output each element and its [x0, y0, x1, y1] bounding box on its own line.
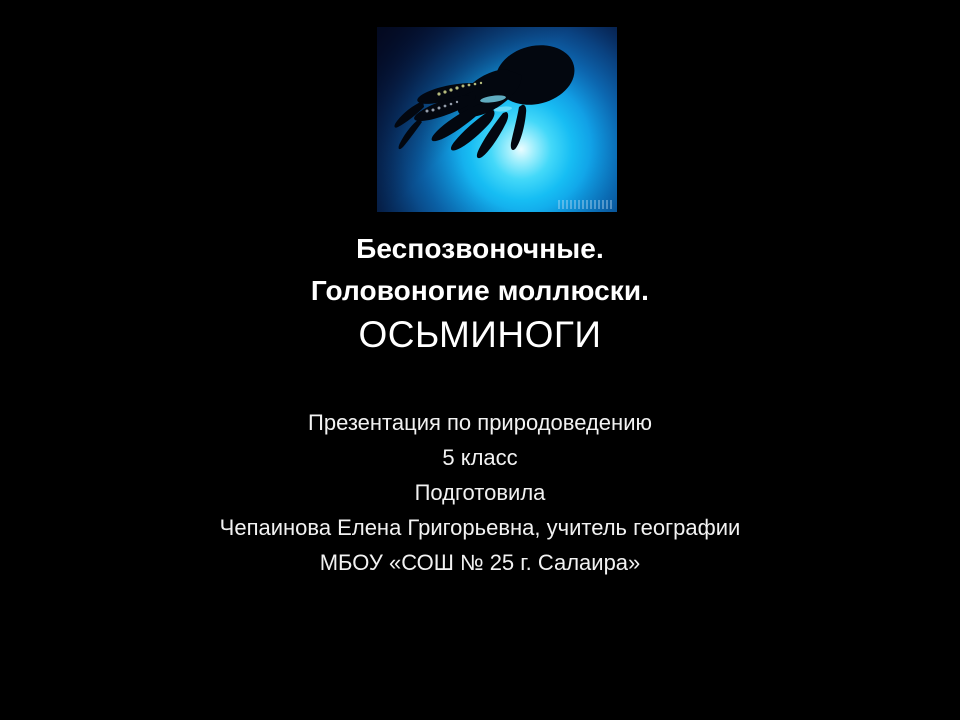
subtitle-line-2: 5 класс	[0, 440, 960, 475]
octopus-silhouette-icon	[377, 27, 617, 212]
slide-subtitle: Презентация по природоведению 5 класс По…	[0, 405, 960, 580]
presentation-title-slide: Беспозвоночные. Головоногие моллюски. ОС…	[0, 0, 960, 720]
subtitle-line-1: Презентация по природоведению	[0, 405, 960, 440]
hero-image	[377, 27, 617, 212]
image-watermark	[558, 200, 614, 209]
subtitle-line-author: Чепаинова Елена Григорьевна, учитель гео…	[0, 510, 960, 545]
subtitle-line-school: МБОУ «СОШ № 25 г. Салаира»	[0, 545, 960, 580]
title-line-2: Головоногие моллюски.	[0, 270, 960, 312]
title-line-3: ОСЬМИНОГИ	[0, 312, 960, 358]
subtitle-line-3: Подготовила	[0, 475, 960, 510]
title-line-1: Беспозвоночные.	[0, 228, 960, 270]
slide-title: Беспозвоночные. Головоногие моллюски. ОС…	[0, 228, 960, 358]
